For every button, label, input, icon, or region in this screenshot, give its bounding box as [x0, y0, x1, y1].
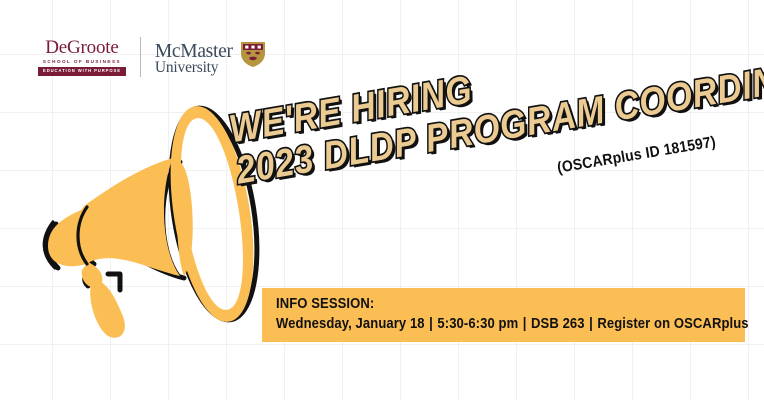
mcmaster-wordmark: McMaster University	[155, 43, 233, 75]
info-separator-3: |	[585, 316, 598, 332]
info-separator-1: |	[425, 316, 438, 332]
info-session-location: DSB 263	[531, 316, 585, 332]
degroote-subtitle: SCHOOL OF BUSINESS	[43, 60, 121, 65]
degroote-tagline: EDUCATION WITH PURPOSE	[38, 67, 126, 75]
logo-bar: DeGroote SCHOOL OF BUSINESS EDUCATION WI…	[38, 36, 268, 78]
info-session-action: Register on OSCARplus	[597, 316, 748, 332]
info-separator-2: |	[518, 316, 531, 332]
info-session-time: 5:30-6:30 pm	[437, 316, 518, 332]
info-session-title: INFO SESSION:	[276, 295, 698, 313]
info-session-date: Wednesday, January 18	[276, 316, 425, 332]
info-session-details: Wednesday, January 18|5:30-6:30 pm|DSB 2…	[276, 315, 698, 335]
degroote-wordmark: DeGroote	[45, 38, 118, 57]
mcmaster-line2: University	[155, 61, 233, 75]
headline-block: WE'RE HIRING 2023 DLDP PROGRAM COORDINAT…	[218, 4, 764, 215]
hiring-poster: DeGroote SCHOOL OF BUSINESS EDUCATION WI…	[0, 0, 764, 400]
mcmaster-crest-icon	[238, 39, 268, 74]
info-session-box: INFO SESSION: Wednesday, January 18|5:30…	[262, 288, 745, 342]
mcmaster-logo: McMaster University	[141, 39, 268, 75]
degroote-logo: DeGroote SCHOOL OF BUSINESS EDUCATION WI…	[38, 38, 140, 75]
